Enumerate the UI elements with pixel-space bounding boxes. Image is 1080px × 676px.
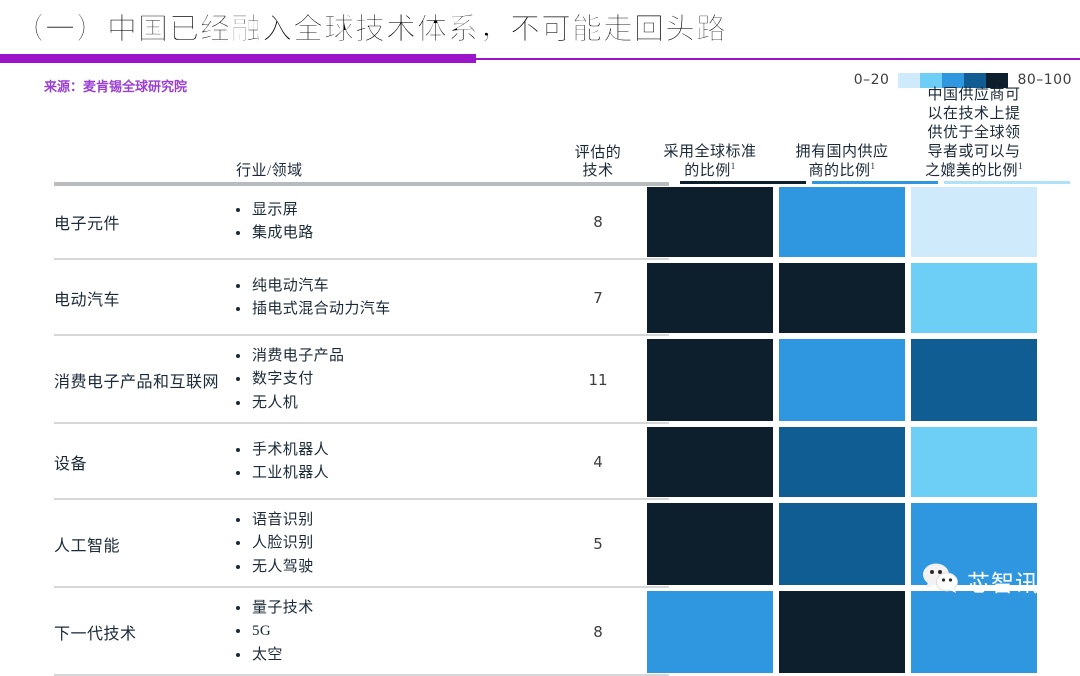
- list-item: 无人机: [230, 392, 344, 415]
- table-row: 消费电子产品和互联网消费电子产品数字支付无人机11: [0, 336, 1080, 424]
- heatmap-cell: [779, 424, 905, 500]
- row-count-cell: 11: [555, 336, 641, 424]
- header-label-h3-line1: 中国供应商可: [925, 86, 1023, 105]
- legend-swatch-2: [920, 73, 942, 88]
- header-label-h2: 拥有国内供应 商的比例1: [795, 143, 888, 182]
- legend-swatches: [898, 73, 1008, 88]
- row-items-cell: 纯电动汽车插电式混合动力汽车: [230, 260, 555, 336]
- heatmap-cell: [647, 336, 773, 424]
- row-sector-cell: 人工智能: [0, 500, 230, 588]
- heatmap-cell-fill: [779, 427, 905, 497]
- row-divider-top: [54, 184, 669, 186]
- heatmap-cell-fill: [647, 263, 773, 333]
- header-label-h2-line2: 商的比例1: [795, 161, 888, 181]
- header-label-h3-line5: 之媲美的比例1: [925, 161, 1023, 181]
- row-sector-cell: 电动汽车: [0, 260, 230, 336]
- row-items-cell: 消费电子产品数字支付无人机: [230, 336, 555, 424]
- header-cell-h2: 拥有国内供应 商的比例1: [779, 96, 905, 184]
- list-item: 消费电子产品: [230, 345, 344, 368]
- header-cell-h3: 中国供应商可 以在技术上提 供优于全球领 导者或可以与 之媲美的比例1: [911, 96, 1037, 184]
- table-row: 人工智能语音识别人脸识别无人驾驶5: [0, 500, 1080, 588]
- legend-swatch-3: [942, 73, 964, 88]
- header-label-count-line2: 技术: [575, 162, 622, 181]
- heatmap-cell: [647, 500, 773, 588]
- heatmap-cell-fill: [779, 263, 905, 333]
- heatmap-cell-fill: [911, 187, 1037, 257]
- heatmap-cell-fill: [647, 339, 773, 421]
- heatmap-cell: [911, 336, 1037, 424]
- list-item: 人脸识别: [230, 532, 314, 555]
- row-sector-label: 人工智能: [54, 532, 120, 556]
- list-item: 集成电路: [230, 222, 314, 245]
- row-item-list: 手术机器人工业机器人: [230, 439, 329, 486]
- row-count-cell: 5: [555, 500, 641, 588]
- row-sector-label: 电动汽车: [54, 286, 120, 310]
- heatmap-cell-fill: [911, 339, 1037, 421]
- list-item: 显示屏: [230, 199, 314, 222]
- heatmap-cell-fill: [911, 427, 1037, 497]
- header-cell-sector: [0, 96, 230, 184]
- header-footnote-h3: 1: [1018, 161, 1023, 171]
- table-row: 电子元件显示屏集成电路8: [0, 184, 1080, 260]
- row-count-cell: 8: [555, 184, 641, 260]
- heatmap-cell: [911, 260, 1037, 336]
- row-item-list: 语音识别人脸识别无人驾驶: [230, 509, 314, 579]
- heatmap-cell: [647, 260, 773, 336]
- legend-swatch-1: [898, 73, 920, 88]
- heatmap-table: 行业/领域 评估的 技术 采用全球标准 的比例1 拥有国内供应 商的比例1 中国: [0, 96, 1080, 676]
- row-count-value: 7: [593, 289, 603, 307]
- header-footnote-h2: 1: [871, 161, 876, 171]
- list-item: 纯电动汽车: [230, 275, 391, 298]
- heatmap-cell: [779, 336, 905, 424]
- row-sector-label: 电子元件: [54, 210, 120, 234]
- header-cell-count: 评估的 技术: [555, 96, 641, 184]
- heatmap-cell: [911, 184, 1037, 260]
- header-label-h1-line2: 的比例1: [663, 161, 756, 181]
- row-sector-label: 消费电子产品和互联网: [54, 368, 219, 392]
- heatmap-cell: [779, 500, 905, 588]
- header-label-h1: 采用全球标准 的比例1: [663, 143, 756, 182]
- row-item-list: 消费电子产品数字支付无人机: [230, 345, 344, 415]
- heatmap-cell-fill: [647, 503, 773, 585]
- row-item-list: 纯电动汽车插电式混合动力汽车: [230, 275, 391, 322]
- row-items-cell: 显示屏集成电路: [230, 184, 555, 260]
- legend-swatch-4: [964, 73, 986, 88]
- header-label-h3-line4: 导者或可以与: [925, 143, 1023, 162]
- header-label-h3: 中国供应商可 以在技术上提 供优于全球领 导者或可以与 之媲美的比例1: [925, 86, 1023, 181]
- row-sector-cell: 电子元件: [0, 184, 230, 260]
- table-row: 电动汽车纯电动汽车插电式混合动力汽车7: [0, 260, 1080, 336]
- header-label-items: 行业/领域: [236, 162, 303, 181]
- page-title: （一）中国已经融入全球技术体系，不可能走回头路: [14, 4, 727, 48]
- heatmap-cell: [779, 184, 905, 260]
- table-header-row: 行业/领域 评估的 技术 采用全球标准 的比例1 拥有国内供应 商的比例1 中国: [0, 96, 1080, 184]
- row-count-value: 8: [593, 213, 603, 231]
- header-label-h2-line1: 拥有国内供应: [795, 143, 888, 162]
- heatmap-cell: [911, 500, 1037, 588]
- header-footnote-h1: 1: [731, 161, 736, 171]
- heatmap-cell-fill: [779, 187, 905, 257]
- header-label-h3-line2: 以在技术上提: [925, 105, 1023, 124]
- row-sector-cell: 消费电子产品和互联网: [0, 336, 230, 424]
- row-items-cell: 语音识别人脸识别无人驾驶: [230, 500, 555, 588]
- legend-high-label: 80–100: [1017, 72, 1072, 88]
- legend-swatch-5: [986, 73, 1008, 88]
- heatmap-cell-fill: [779, 339, 905, 421]
- row-count-cell: 4: [555, 424, 641, 500]
- heatmap-cell-fill: [779, 503, 905, 585]
- row-sector-label: 设备: [54, 450, 87, 474]
- header-cell-items: 行业/领域: [230, 96, 555, 184]
- header-label-h1-line1: 采用全球标准: [663, 143, 756, 162]
- list-item: 工业机器人: [230, 462, 329, 485]
- footnote-sliver: [150, 628, 930, 635]
- header-label-count-line1: 评估的: [575, 144, 622, 163]
- row-items-cell: 手术机器人工业机器人: [230, 424, 555, 500]
- heatmap-cell: [911, 424, 1037, 500]
- list-item: 数字支付: [230, 368, 344, 391]
- header-label-h3-line3: 供优于全球领: [925, 124, 1023, 143]
- source-note: 来源：麦肯锡全球研究院: [44, 76, 187, 95]
- heatmap-cell-fill: [647, 187, 773, 257]
- row-count-value: 11: [588, 371, 607, 389]
- heatmap-cell: [647, 184, 773, 260]
- heatmap-cell-fill: [647, 427, 773, 497]
- row-count-value: 4: [593, 453, 603, 471]
- list-item: 量子技术: [230, 597, 314, 620]
- row-sector-cell: 设备: [0, 424, 230, 500]
- list-item: 无人驾驶: [230, 556, 314, 579]
- list-item: 语音识别: [230, 509, 314, 532]
- header-cell-h1: 采用全球标准 的比例1: [647, 96, 773, 184]
- row-count-value: 5: [593, 535, 603, 553]
- legend-low-label: 0–20: [854, 72, 890, 88]
- row-sector-label: 下一代技术: [54, 620, 137, 644]
- heatmap-cell-fill: [911, 263, 1037, 333]
- header-label-count: 评估的 技术: [575, 144, 622, 182]
- row-count-cell: 7: [555, 260, 641, 336]
- heatmap-cell: [647, 424, 773, 500]
- list-item: 太空: [230, 644, 314, 667]
- list-item: 插电式混合动力汽车: [230, 298, 391, 321]
- table-row: 设备手术机器人工业机器人4: [0, 424, 1080, 500]
- heatmap-cell: [779, 260, 905, 336]
- table-body: 电子元件显示屏集成电路8电动汽车纯电动汽车插电式混合动力汽车7消费电子产品和互联…: [0, 184, 1080, 676]
- list-item: 手术机器人: [230, 439, 329, 462]
- heatmap-cell-fill: [911, 503, 1037, 585]
- row-item-list: 显示屏集成电路: [230, 199, 314, 246]
- title-underline-thick: [0, 54, 476, 63]
